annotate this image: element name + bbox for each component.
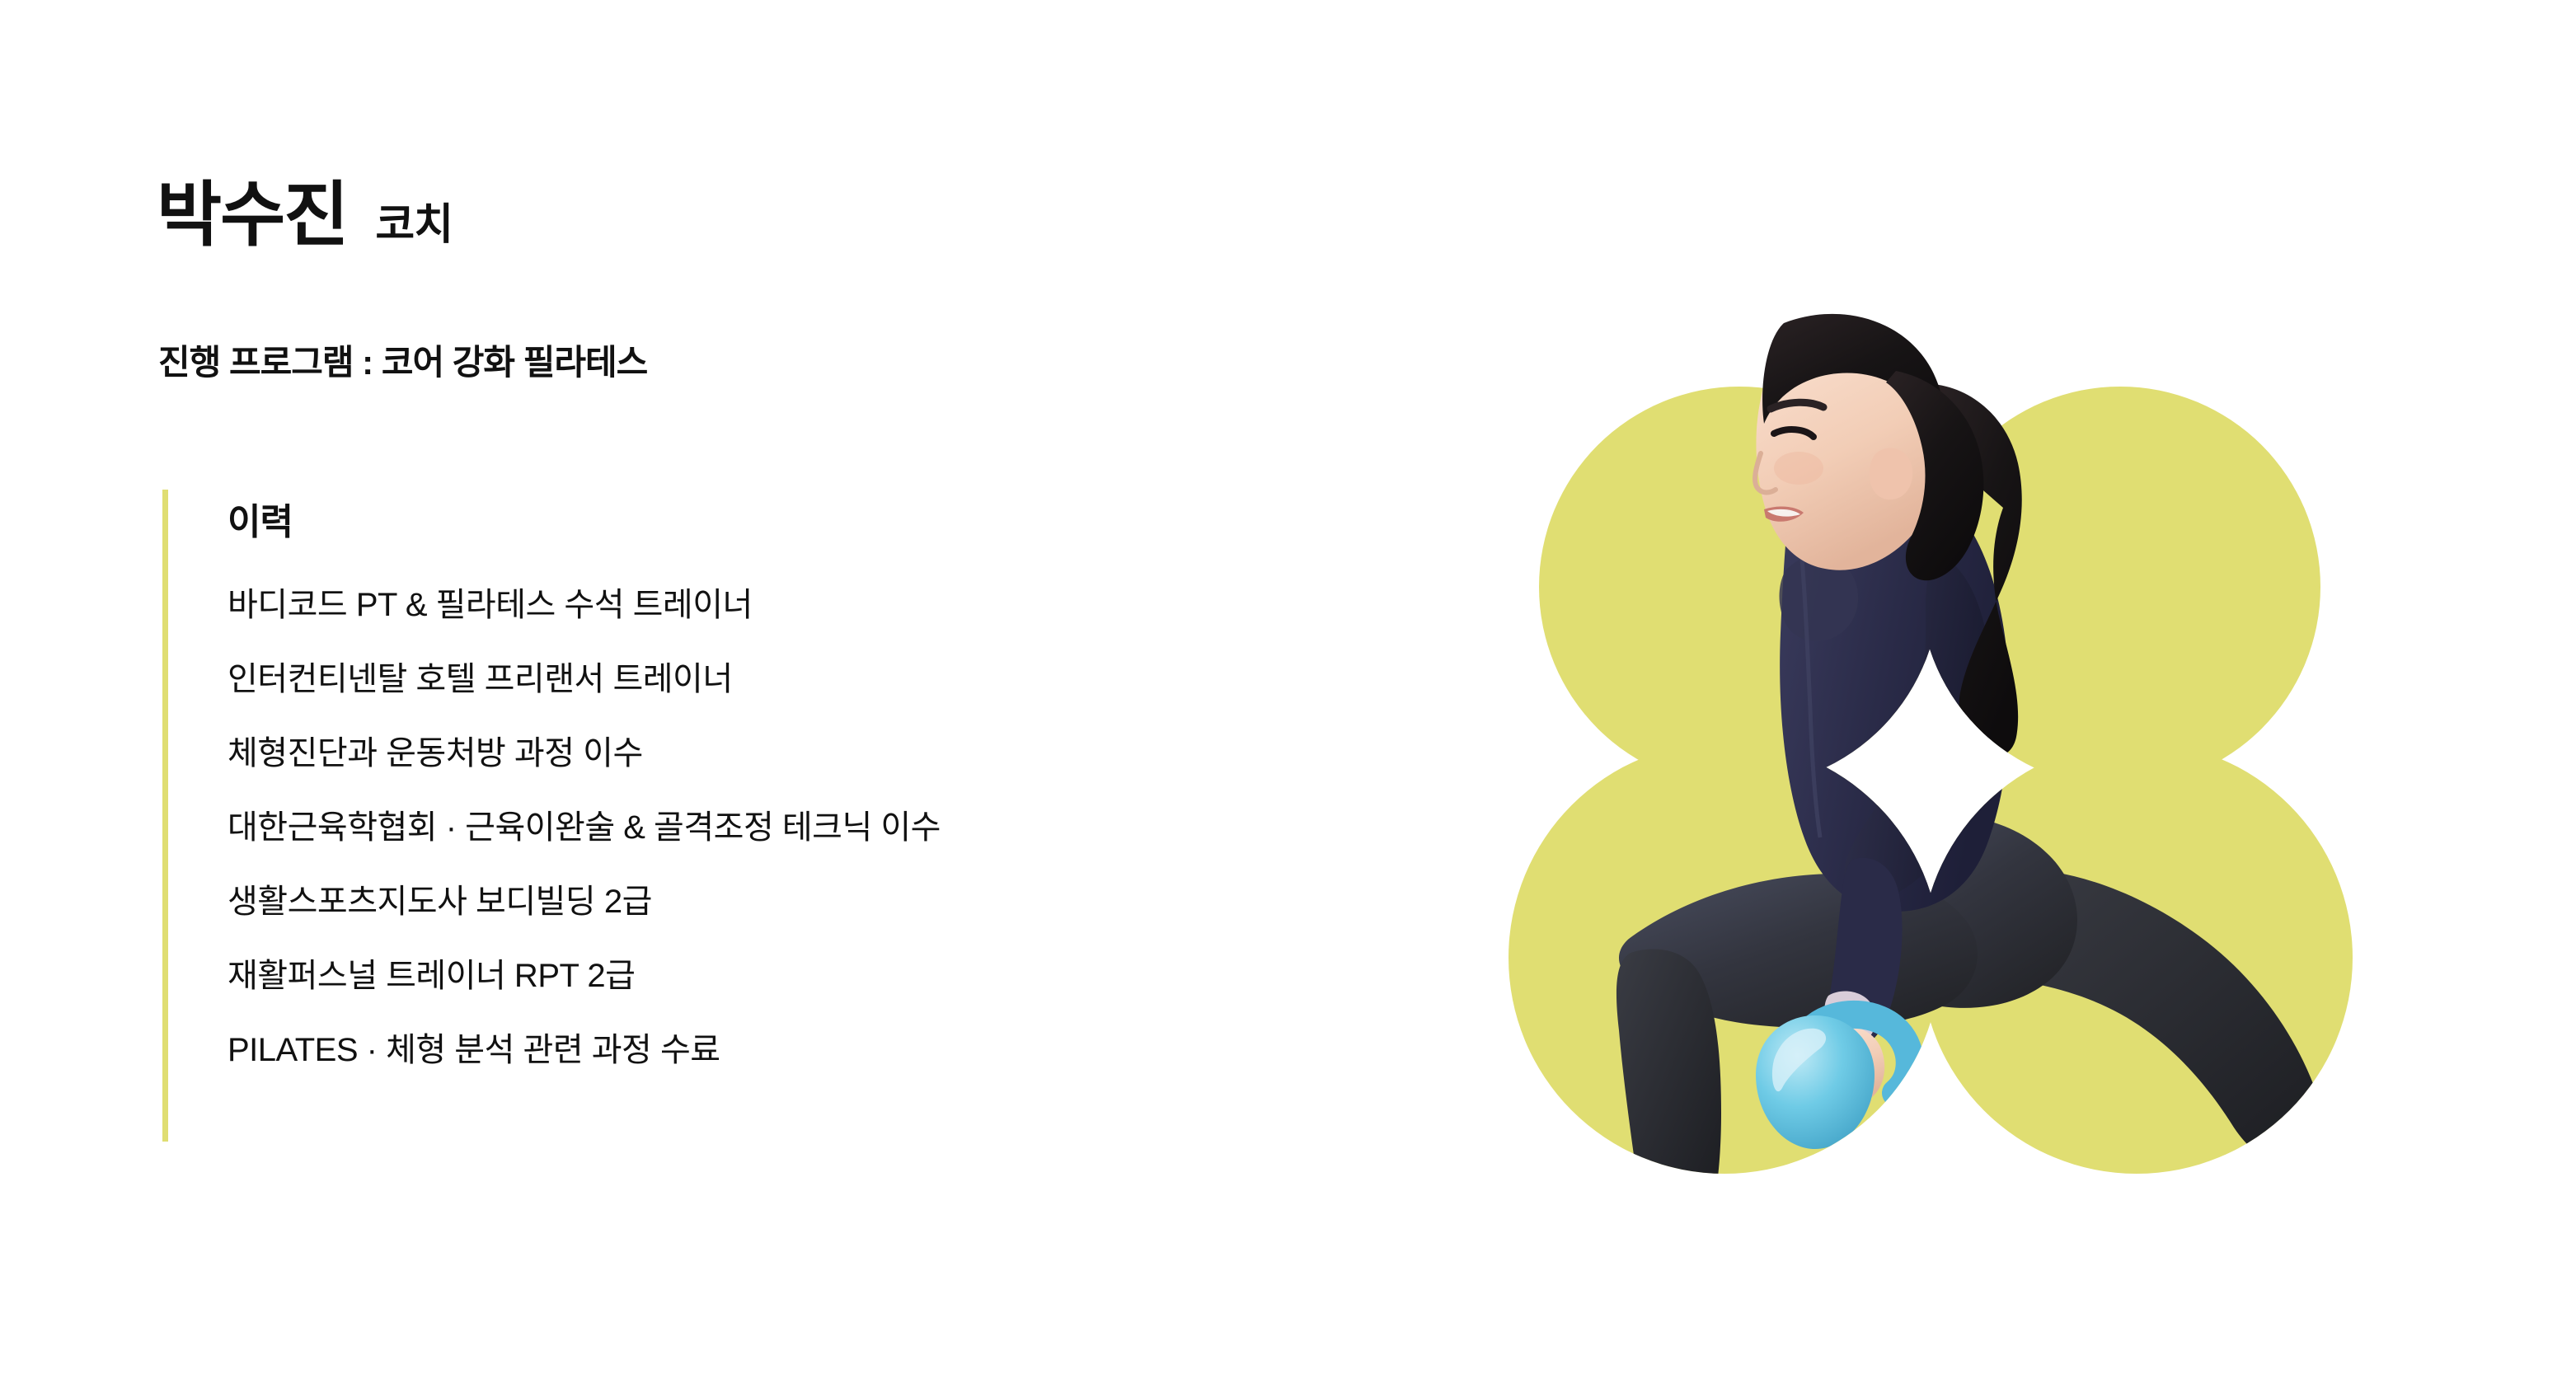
coach-profile-slide: 박수진 코치 진행 프로그램 : 코어 강화 필라테스 이력 바디코드 PT &… xyxy=(0,0,2576,1374)
list-item: 인터컨티넨탈 호텔 프리랜서 트레이너 xyxy=(228,663,941,696)
coach-visual xyxy=(1509,247,2366,1179)
photo-figure xyxy=(1616,314,2325,1179)
list-item: 바디코드 PT & 필라테스 수석 트레이너 xyxy=(228,589,941,621)
program-line: 진행 프로그램 : 코어 강화 필라테스 xyxy=(158,342,647,383)
coach-photo xyxy=(1509,247,2366,1179)
list-item: 체형진단과 운동처방 과정 이수 xyxy=(228,737,941,770)
coach-name: 박수진 xyxy=(157,180,347,251)
list-item: 대한근육학협회 · 근육이완술 & 골격조정 테크닉 이수 xyxy=(228,811,941,844)
career-list: 바디코드 PT & 필라테스 수석 트레이너 인터컨티넨탈 호텔 프리랜서 트레… xyxy=(228,589,941,1067)
list-item: PILATES · 체형 분석 관련 과정 수료 xyxy=(228,1034,941,1067)
coach-role-label: 코치 xyxy=(375,204,453,246)
ear xyxy=(1870,448,1912,499)
career-block: 이력 바디코드 PT & 필라테스 수석 트레이너 인터컨티넨탈 호텔 프리랜서… xyxy=(162,490,941,1142)
page-title: 박수진 코치 xyxy=(157,180,453,251)
profile-text-column: 박수진 코치 진행 프로그램 : 코어 강화 필라테스 이력 바디코드 PT &… xyxy=(157,0,1443,1374)
list-item: 재활퍼스널 트레이너 RPT 2급 xyxy=(228,959,941,992)
cheek xyxy=(1774,452,1823,485)
career-heading: 이력 xyxy=(228,490,941,541)
list-item: 생활스포츠지도사 보디빌딩 2급 xyxy=(228,885,941,918)
